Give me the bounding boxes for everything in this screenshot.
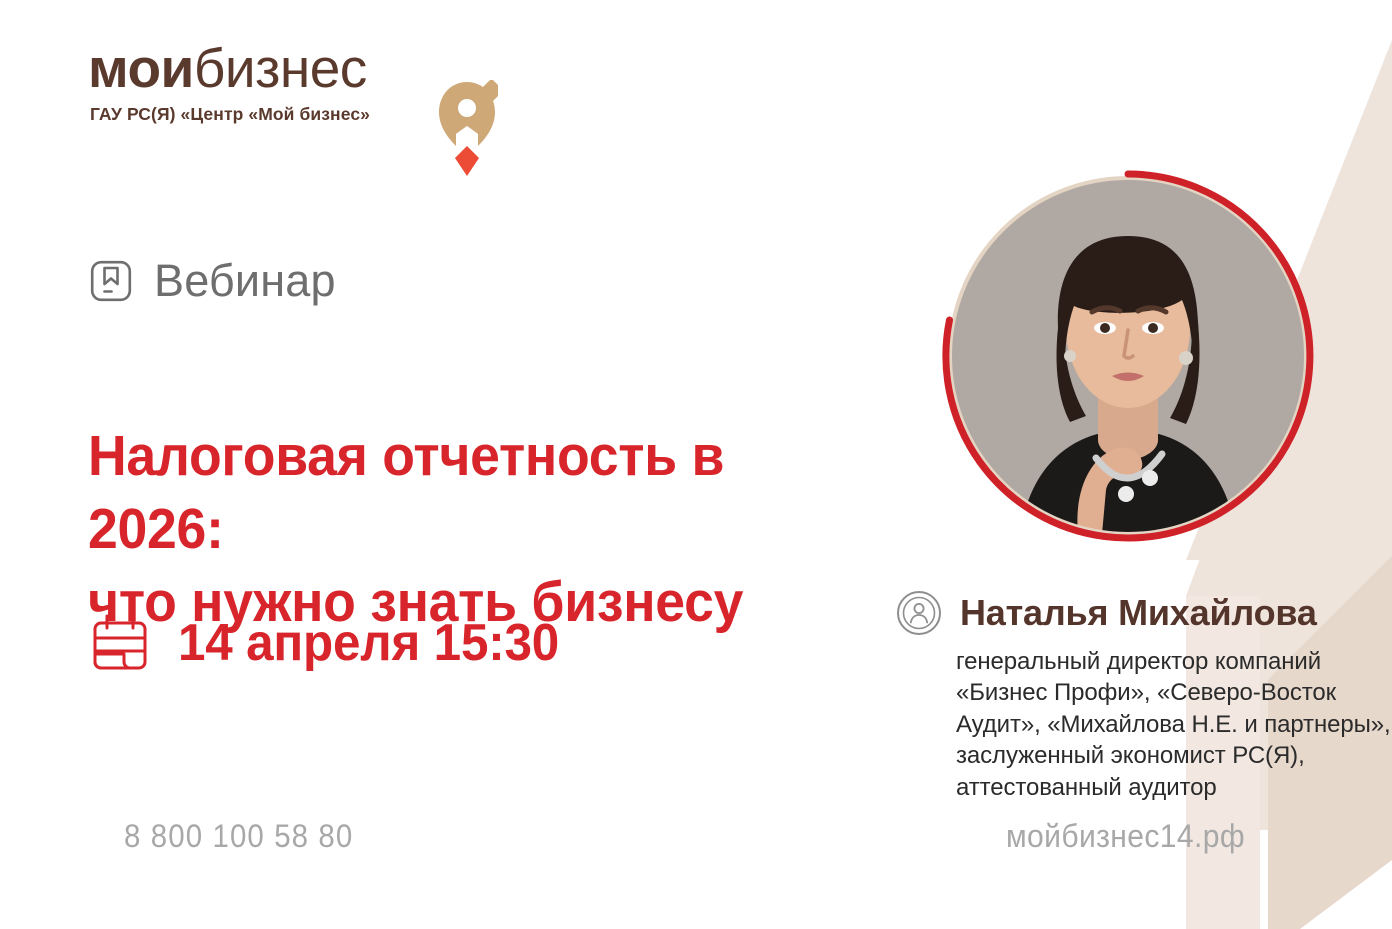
rocket-pin-icon — [436, 80, 498, 176]
speaker-description: генеральный директор компаний «Бизнес Пр… — [956, 646, 1376, 803]
speaker-name: Наталья Михайлова — [960, 595, 1317, 631]
title-line-1: Налоговая отчетность в 2026: — [88, 420, 802, 566]
event-date-row: 14 апреля 15:30 — [92, 614, 579, 672]
webinar-poster: моибизнес ГАУ РС(Я) «Центр «Мой бизнес» … — [0, 0, 1392, 929]
speaker-name-row: Наталья Михайлова — [896, 590, 1317, 636]
logo-subtitle: ГАУ РС(Я) «Центр «Мой бизнес» — [90, 104, 370, 125]
contact-website[interactable]: мойбизнес14.рф — [1006, 818, 1245, 855]
person-circle-icon — [896, 590, 942, 636]
white-corner-notch — [1300, 860, 1392, 929]
portrait-accent-ring — [938, 166, 1318, 546]
speaker-photo — [938, 166, 1318, 546]
page-title: Налоговая отчетность в 2026: что нужно з… — [88, 420, 802, 639]
event-type-label: Вебинар — [154, 258, 336, 303]
speaker-description-line: Аудит», «Михайлова Н.Е. и партнеры», — [956, 709, 1376, 740]
logo-wordmark: моибизнес — [88, 38, 367, 98]
logo-word-bold: мои — [88, 37, 194, 99]
brand-logo[interactable]: моибизнес ГАУ РС(Я) «Центр «Мой бизнес» — [88, 38, 428, 148]
speaker-description-line: заслуженный экономист РС(Я), — [956, 740, 1376, 771]
contact-phone[interactable]: 8 800 100 58 80 — [124, 818, 353, 855]
speaker-description-line: «Бизнес Профи», «Северо-Восток — [956, 677, 1376, 708]
event-type-row: Вебинар — [90, 258, 336, 303]
webinar-slide-icon — [90, 260, 132, 302]
speaker-description-line: генеральный директор компаний — [956, 646, 1376, 677]
event-date-label: 14 апреля 15:30 — [178, 617, 559, 669]
logo-word-light: бизнес — [194, 37, 367, 99]
speaker-description-line: аттестованный аудитор — [956, 772, 1376, 803]
calendar-icon — [92, 614, 148, 672]
